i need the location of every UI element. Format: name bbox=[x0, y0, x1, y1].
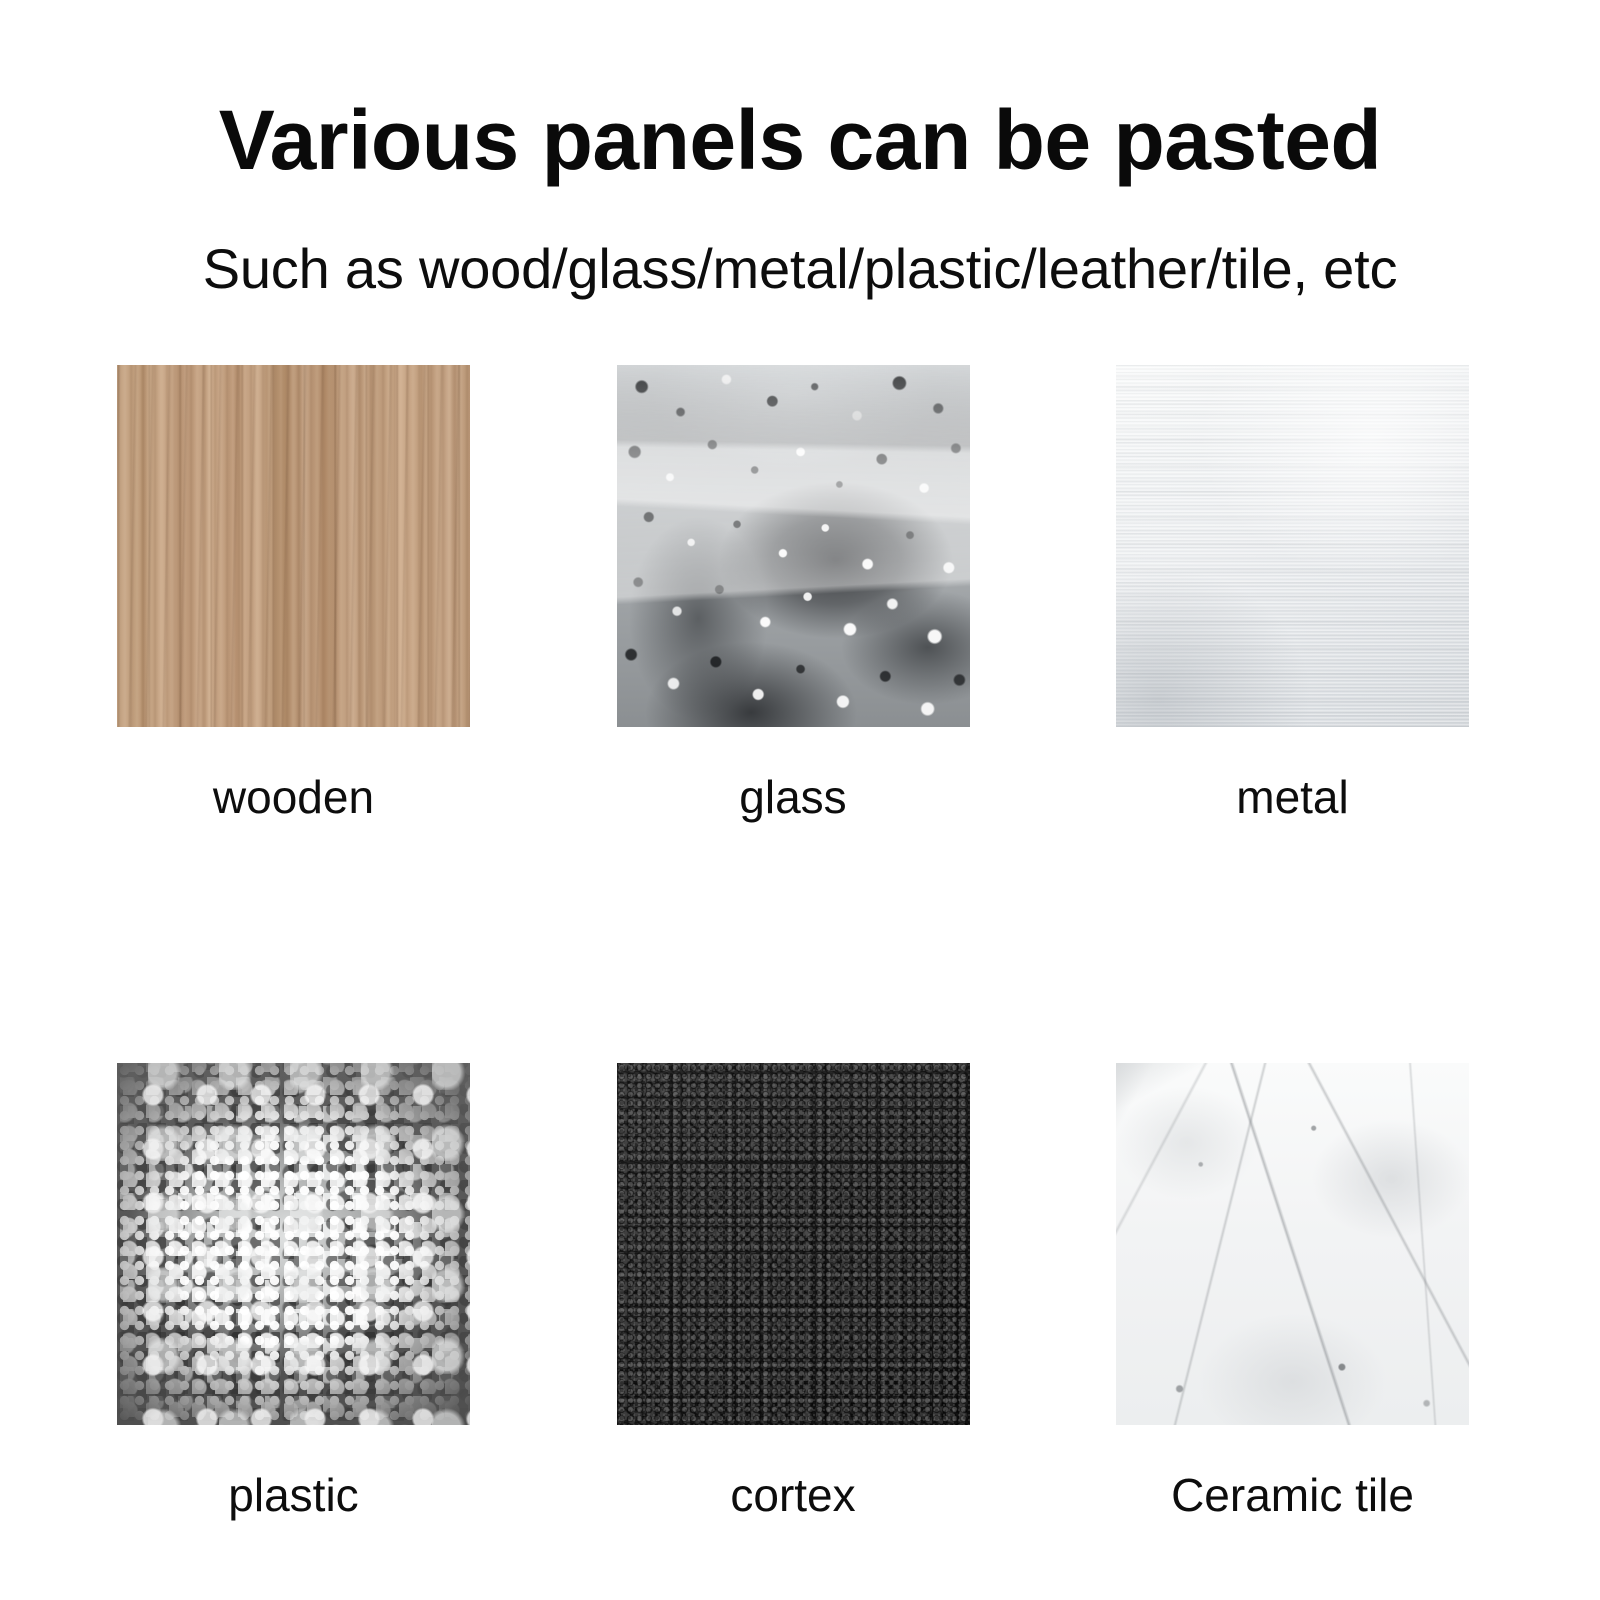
material-cell-wooden: wooden bbox=[117, 365, 470, 820]
material-label-ceramic-tile: Ceramic tile bbox=[1116, 1472, 1469, 1518]
material-grid: wooden glass metal plastic bbox=[117, 365, 1469, 1518]
page-subtitle: Such as wood/glass/metal/plastic/leather… bbox=[0, 240, 1600, 299]
page-title: Various panels can be pasted bbox=[0, 96, 1600, 184]
material-row: plastic cortex Ceramic tile bbox=[117, 1063, 1469, 1518]
infographic-page: Various panels can be pasted Such as woo… bbox=[0, 0, 1600, 1600]
plastic-pellet-pattern bbox=[117, 1063, 470, 1425]
wood-texture-swatch bbox=[117, 365, 470, 727]
glass-texture-swatch bbox=[617, 365, 970, 727]
marble-texture-swatch bbox=[1116, 1063, 1469, 1425]
rain-droplet-pattern bbox=[617, 365, 970, 727]
material-cell-plastic: plastic bbox=[117, 1063, 470, 1518]
material-row: wooden glass metal bbox=[117, 365, 1469, 820]
metal-texture-swatch bbox=[1116, 365, 1469, 727]
leather-grain-pattern bbox=[617, 1063, 970, 1425]
material-cell-metal: metal bbox=[1116, 365, 1469, 820]
leather-texture-swatch bbox=[617, 1063, 970, 1425]
brushed-metal-pattern bbox=[1116, 365, 1469, 727]
material-cell-ceramic-tile: Ceramic tile bbox=[1116, 1063, 1469, 1518]
material-label-glass: glass bbox=[617, 774, 970, 820]
material-label-wooden: wooden bbox=[117, 774, 470, 820]
wood-grain-pattern bbox=[117, 365, 470, 727]
marble-vein-pattern bbox=[1116, 1063, 1469, 1425]
material-label-plastic: plastic bbox=[117, 1472, 470, 1518]
material-cell-glass: glass bbox=[617, 365, 970, 820]
plastic-texture-swatch bbox=[117, 1063, 470, 1425]
material-cell-cortex: cortex bbox=[617, 1063, 970, 1518]
material-label-cortex: cortex bbox=[617, 1472, 970, 1518]
material-label-metal: metal bbox=[1116, 774, 1469, 820]
